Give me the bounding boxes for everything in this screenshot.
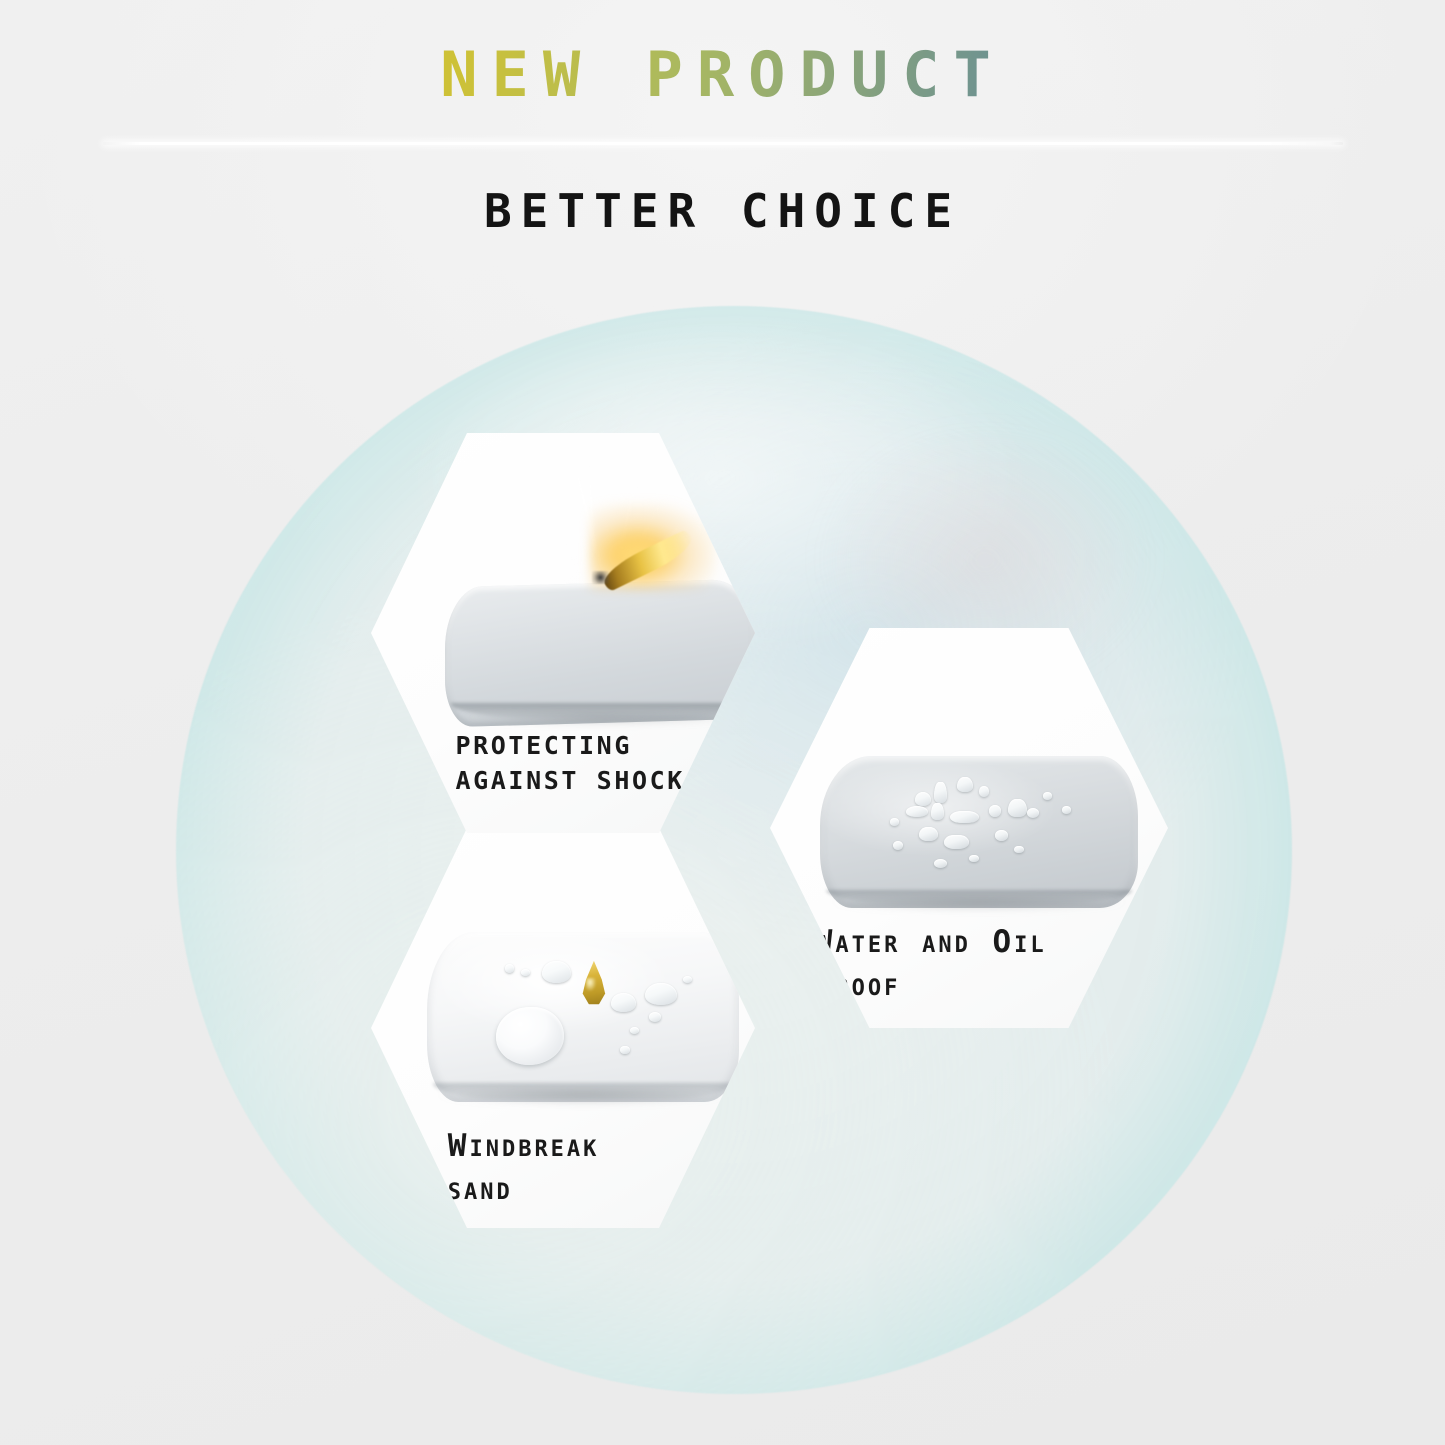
lens-icon xyxy=(445,583,755,723)
lens-icon xyxy=(820,756,1138,908)
spark-streak xyxy=(640,543,688,571)
product-feature-banner: NEW PRODUCT BETTER CHOICE xyxy=(0,0,1445,1445)
spark-streak xyxy=(613,484,636,578)
spark-streak xyxy=(587,457,597,585)
oil-droplet-icon xyxy=(580,961,608,1005)
lens-icon xyxy=(427,932,739,1102)
lens-shadow xyxy=(457,712,742,725)
spark-streak xyxy=(547,493,587,588)
oil-droplet-highlight xyxy=(586,978,596,991)
title-divider xyxy=(103,142,1343,145)
spark-streak xyxy=(575,471,606,582)
spark-streak xyxy=(633,525,681,574)
lens-body xyxy=(427,932,739,1102)
lens-shadow xyxy=(439,1088,726,1103)
page-title: NEW PRODUCT xyxy=(0,38,1445,111)
spark-glow xyxy=(590,503,716,590)
large-water-droplet xyxy=(496,1007,565,1065)
page-subtitle: BETTER CHOICE xyxy=(0,184,1445,238)
lens-body xyxy=(820,756,1138,908)
spark-streak xyxy=(623,504,660,576)
lens-shadow xyxy=(833,896,1126,910)
